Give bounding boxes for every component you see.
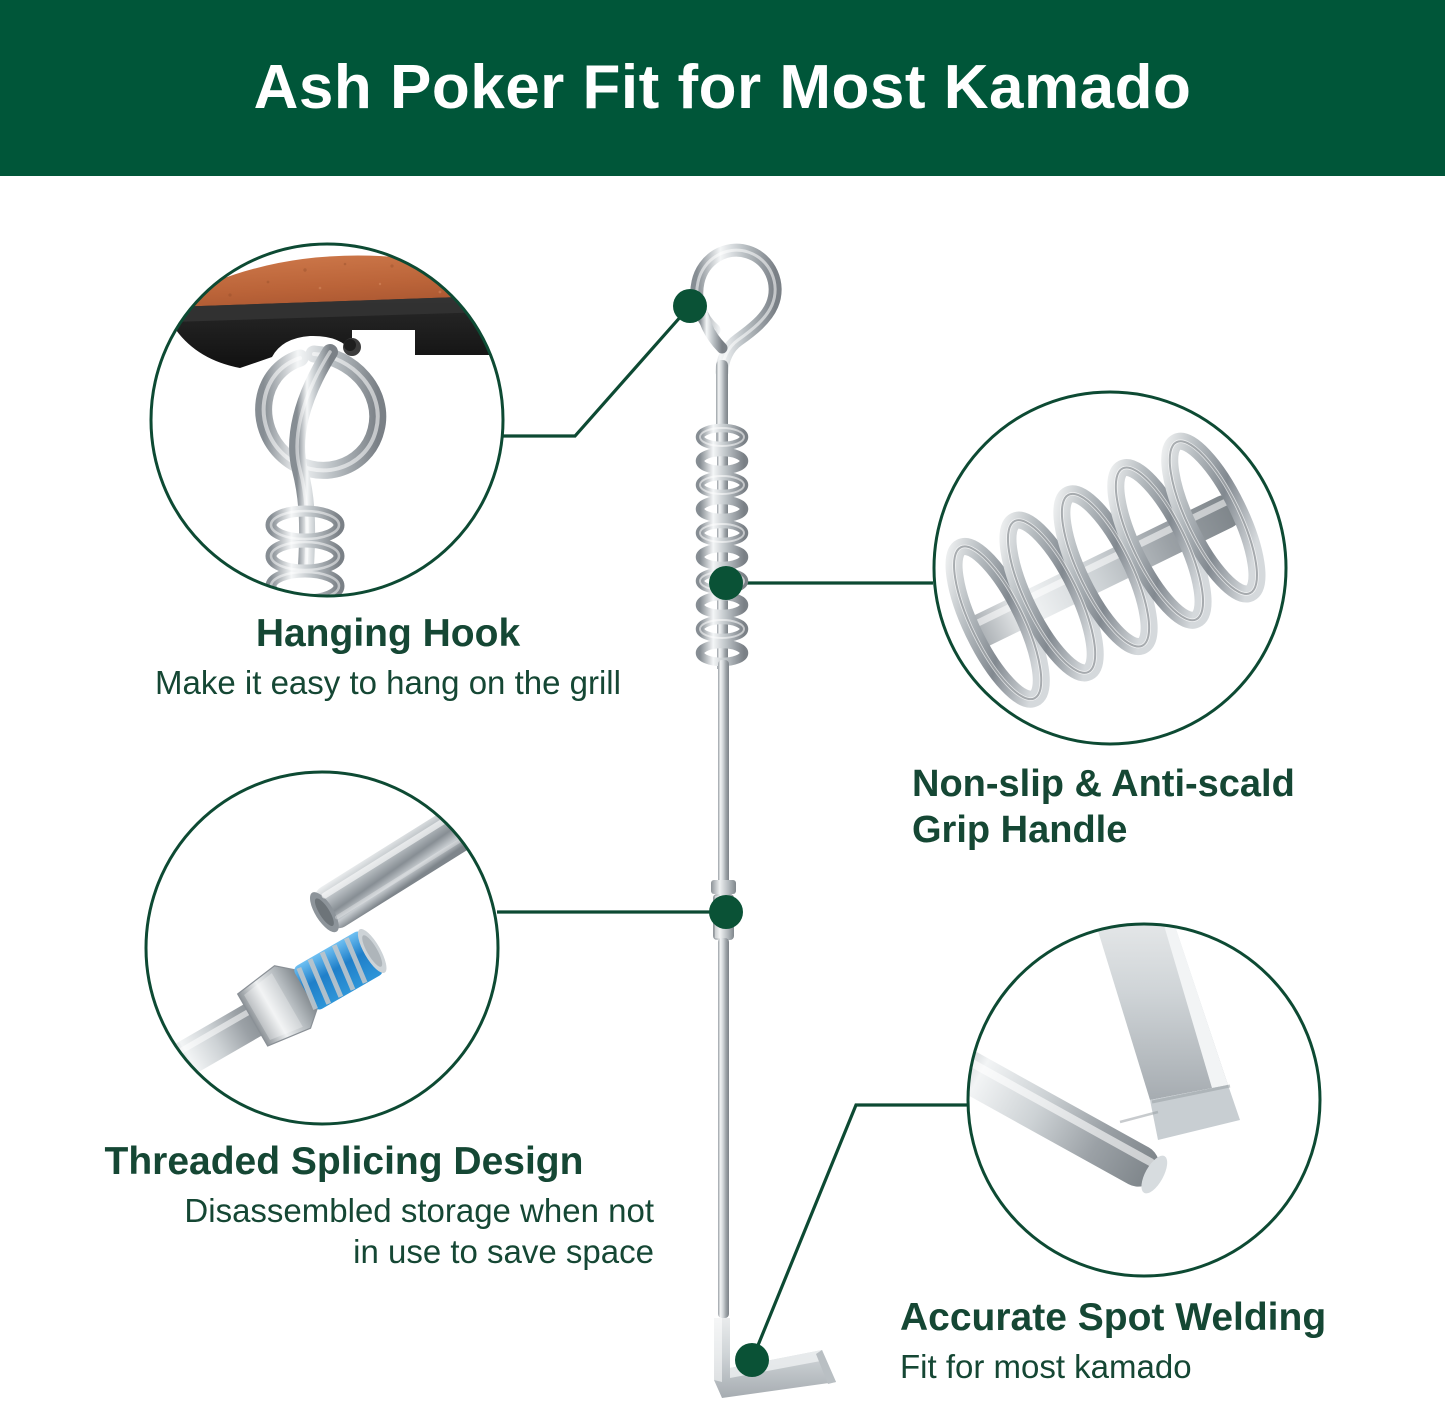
lower-shaft: [718, 938, 729, 1318]
upper-shaft: [718, 660, 729, 885]
callout-circle-grip-handle: [930, 390, 1295, 750]
marker-dot-hanging-hook: [673, 289, 707, 323]
callout-subtitle-threaded-splicing: Disassembled storage when not in use to …: [34, 1190, 654, 1273]
callout-title-spot-welding: Accurate Spot Welding: [900, 1296, 1400, 1340]
callout-text-grip-handle: Non-slip & Anti-scald Grip Handle: [912, 762, 1382, 853]
callout-subtitle-hanging-hook: Make it easy to hang on the grill: [58, 662, 718, 703]
callout-text-spot-welding: Accurate Spot Welding Fit for most kamad…: [900, 1296, 1400, 1387]
callout-circle-spot-welding: [918, 905, 1325, 1282]
marker-dot-spot-welding: [735, 1343, 769, 1377]
marker-dot-threaded-splicing: [709, 895, 743, 929]
callout-circle-hanging-hook: [150, 243, 510, 603]
marker-dot-grip-handle: [709, 566, 743, 600]
callout-text-threaded-splicing: Threaded Splicing Design Disassembled st…: [34, 1140, 654, 1272]
leader-line-hanging-hook: [500, 306, 690, 436]
callout-title-hanging-hook: Hanging Hook: [58, 612, 718, 656]
hanging-loop-hook: [697, 250, 775, 372]
callout-title-grip-handle: Non-slip & Anti-scald Grip Handle: [912, 762, 1382, 853]
infographic-canvas: Ash Poker Fit for Most Kamado: [0, 0, 1445, 1401]
product-ash-poker: [673, 250, 836, 1398]
l-shaped-welded-blade: [714, 1318, 836, 1398]
callout-subtitle-spot-welding: Fit for most kamado: [900, 1346, 1400, 1387]
callout-text-hanging-hook: Hanging Hook Make it easy to hang on the…: [58, 612, 718, 703]
callout-title-threaded-splicing: Threaded Splicing Design: [34, 1140, 654, 1184]
callout-circle-threaded-splicing: [145, 770, 505, 1130]
